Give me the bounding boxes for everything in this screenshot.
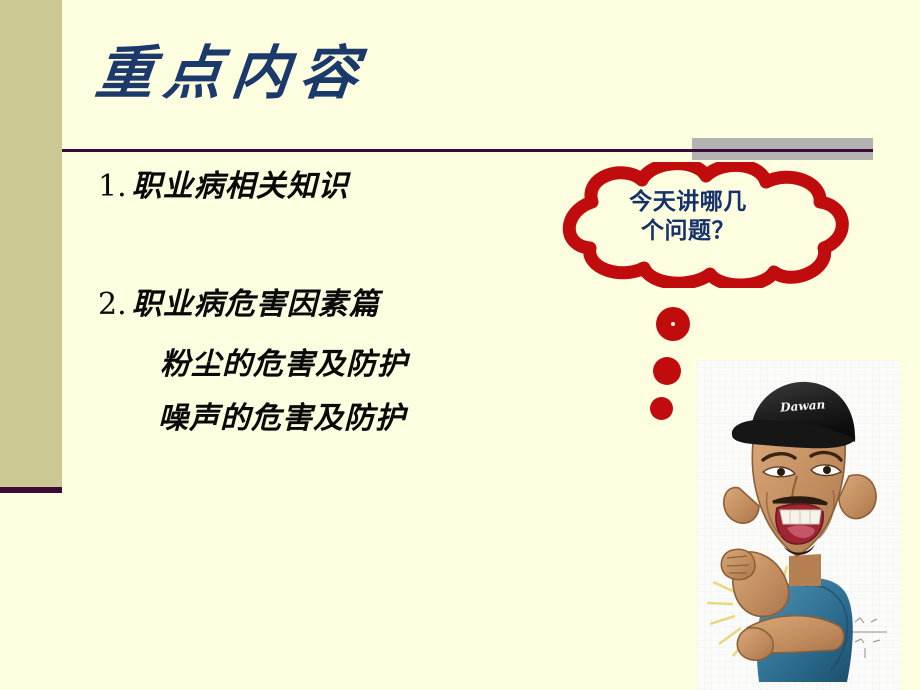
callout-line-2: 个问题？: [588, 217, 788, 246]
slide: 重点内容 1. 职业病相关知识 2. 职业病危害因素篇 粉尘的危害及防护 噪声的…: [0, 0, 920, 690]
page-title: 重点内容: [93, 44, 371, 102]
title-divider-rule: [62, 149, 873, 152]
list-item: 2. 职业病危害因素篇: [98, 290, 380, 320]
left-band-footer-bar: [0, 487, 62, 493]
thought-dot-large: [656, 307, 690, 341]
list-item-number: 2.: [98, 287, 127, 322]
left-decorative-band: [0, 0, 62, 487]
list-item: 1. 职业病相关知识: [98, 172, 349, 202]
thought-cloud-callout: 今天讲哪几 个问题？: [524, 162, 856, 288]
list-subitem: 粉尘的危害及防护: [160, 350, 408, 380]
thought-dot-small: [650, 397, 673, 420]
list-item-label: 职业病相关知识: [132, 169, 349, 204]
list-subitem-label: 粉尘的危害及防护: [160, 347, 408, 382]
thought-dot-medium: [653, 357, 681, 385]
list-item-label: 职业病危害因素篇: [132, 287, 380, 322]
list-subitem-label: 噪声的危害及防护: [158, 401, 406, 436]
callout-text: 今天讲哪几 个问题？: [588, 188, 788, 247]
caricature-man-icon: Dawan: [697, 360, 900, 690]
list-subitem: 噪声的危害及防护: [158, 404, 406, 434]
list-item-number: 1.: [98, 169, 127, 204]
callout-line-1: 今天讲哪几: [588, 188, 788, 217]
caricature-illustration: Dawan: [697, 360, 900, 690]
